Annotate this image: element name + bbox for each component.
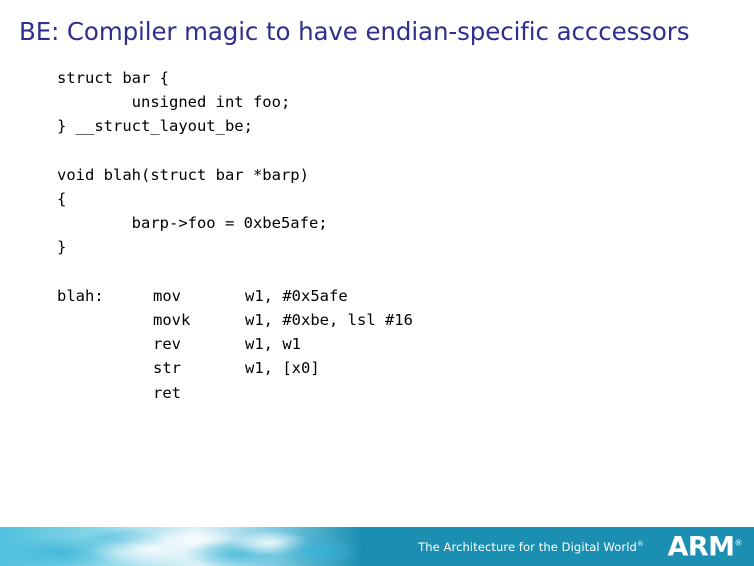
code-gap-1 [57, 139, 717, 163]
assembly-mnemonic: str [153, 356, 245, 380]
assembly-listing: blah: mov w1, #0x5afe movk w1, #0xbe, ls… [57, 284, 413, 405]
assembly-label [57, 356, 153, 380]
assembly-row: ret [57, 381, 413, 405]
assembly-operands: w1, #0x5afe [245, 284, 413, 308]
assembly-mnemonic: movk [153, 308, 245, 332]
assembly-row: blah: mov w1, #0x5afe [57, 284, 413, 308]
footer-tagline: The Architecture for the Digital World® [418, 540, 644, 554]
code-block-struct: struct bar { unsigned int foo; } __struc… [57, 66, 717, 139]
assembly-label [57, 332, 153, 356]
assembly-operands: w1, [x0] [245, 356, 413, 380]
assembly-row: str w1, [x0] [57, 356, 413, 380]
arm-logo: ARM® [667, 533, 742, 560]
assembly-label: blah: [57, 284, 153, 308]
assembly-mnemonic: mov [153, 284, 245, 308]
assembly-row: movk w1, #0xbe, lsl #16 [57, 308, 413, 332]
assembly-label [57, 381, 153, 405]
code-gap-2 [57, 260, 717, 284]
slide: BE: Compiler magic to have endian-specif… [0, 0, 754, 566]
assembly-operands: w1, w1 [245, 332, 413, 356]
assembly-label [57, 308, 153, 332]
assembly-mnemonic: rev [153, 332, 245, 356]
footer-tagline-registered-mark: ® [637, 540, 644, 548]
arm-logo-text: ARM [667, 531, 734, 562]
cloud-gradient-graphic [0, 527, 380, 566]
arm-logo-registered-mark: ® [735, 538, 743, 547]
page-title: BE: Compiler magic to have endian-specif… [19, 17, 689, 46]
code-area: struct bar { unsigned int foo; } __struc… [57, 66, 717, 405]
code-block-function: void blah(struct bar *barp) { barp->foo … [57, 163, 717, 260]
assembly-mnemonic: ret [153, 381, 245, 405]
assembly-row: rev w1, w1 [57, 332, 413, 356]
assembly-rows: blah: mov w1, #0x5afe movk w1, #0xbe, ls… [57, 284, 413, 405]
assembly-operands: w1, #0xbe, lsl #16 [245, 308, 413, 332]
footer-tagline-text: The Architecture for the Digital World [418, 540, 637, 554]
assembly-operands [245, 381, 413, 405]
footer-band: The Architecture for the Digital World® … [0, 527, 754, 566]
